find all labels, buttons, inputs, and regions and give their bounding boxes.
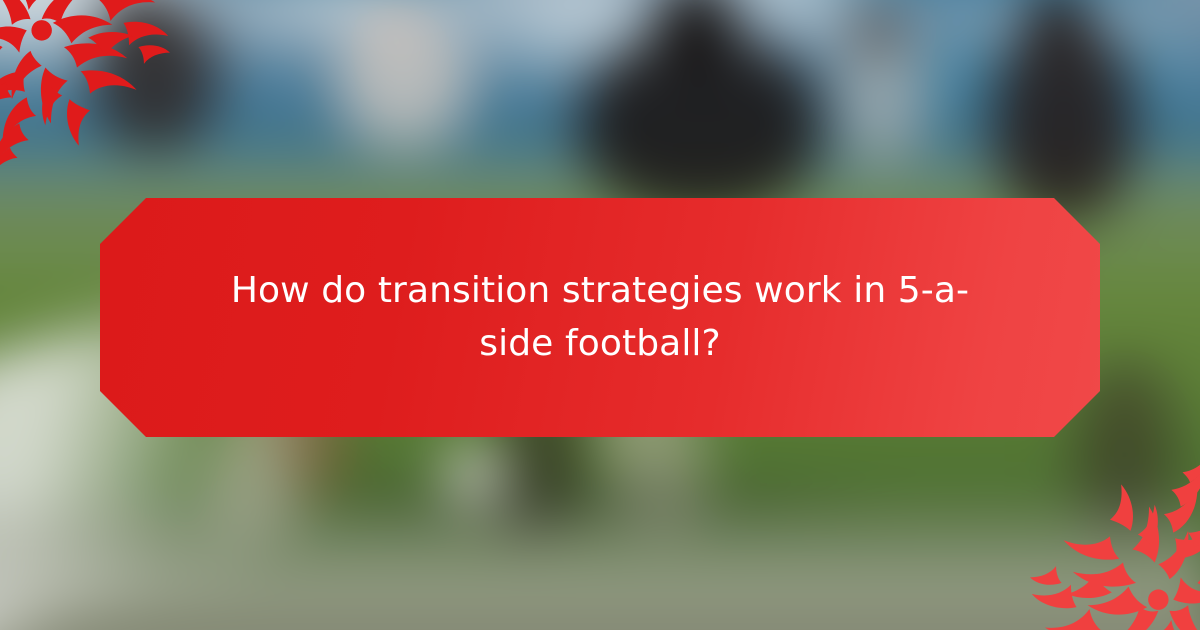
pitch-foreground-strip xyxy=(0,507,1200,624)
floral-corner-ornament-top-left xyxy=(0,0,170,168)
player-silhouette-2-head xyxy=(371,0,418,49)
floral-corner-ornament-bottom-right xyxy=(1030,462,1200,630)
social-card: How do transition strategies work in 5-a… xyxy=(0,0,1200,630)
player-silhouette-4-head xyxy=(848,0,905,57)
page-title: How do transition strategies work in 5-a… xyxy=(210,265,990,369)
player-silhouette-5 xyxy=(992,19,1135,220)
headline-banner: How do transition strategies work in 5-a… xyxy=(100,198,1100,437)
